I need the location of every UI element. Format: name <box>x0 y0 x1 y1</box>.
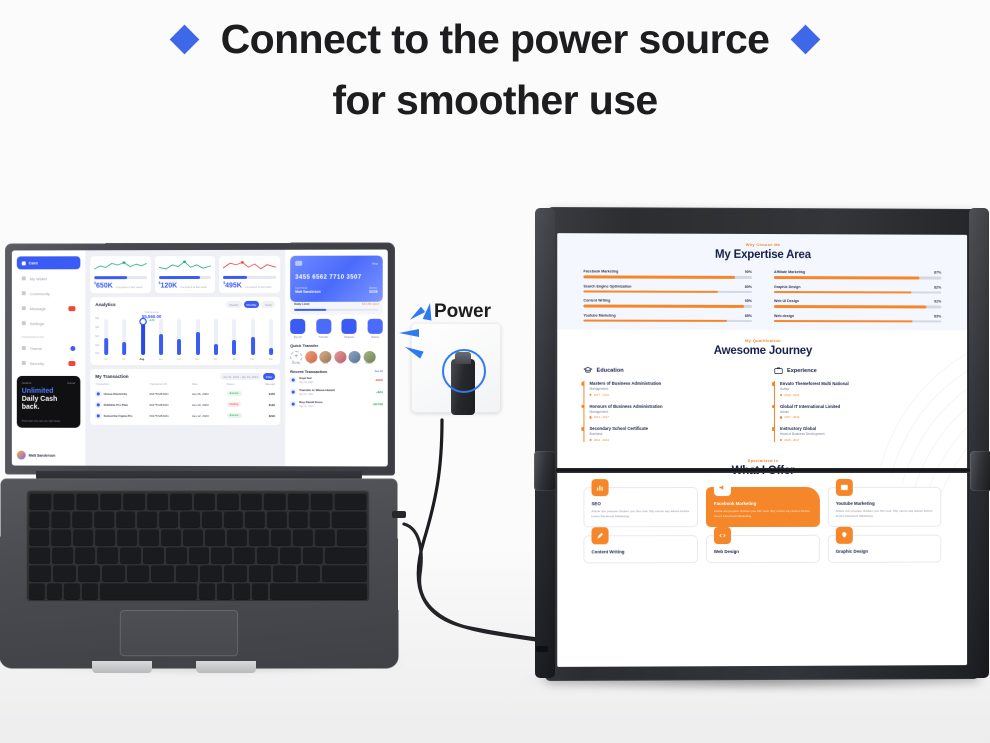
wallet-icon <box>22 276 26 280</box>
offer-card[interactable]: Web Design <box>706 535 820 563</box>
stat-progress <box>159 276 212 279</box>
timeline-subtitle: Admin <box>780 410 941 414</box>
skill-percent: 87% <box>934 271 941 275</box>
key[interactable] <box>72 511 92 527</box>
filter-monthly[interactable]: Monthly <box>244 301 260 308</box>
key[interactable] <box>331 511 366 527</box>
transaction-id: #02757284401 <box>149 414 188 418</box>
stat-cards: $650K Compared to last week <box>90 256 280 294</box>
key[interactable] <box>73 529 93 545</box>
transaction-amount: $290 <box>255 414 275 418</box>
chart-bar[interactable] <box>141 319 145 355</box>
keyboard[interactable] <box>26 490 370 602</box>
card-number: 3455 6562 7710 3507 <box>295 275 378 281</box>
message-badge <box>68 306 75 311</box>
skill-item: Graphic Design82% <box>774 285 941 294</box>
add-contact-button[interactable]: +Add new <box>290 351 302 365</box>
timeline-subtitle: Management <box>589 410 752 414</box>
theme-dot-icon <box>70 346 75 351</box>
recent-amount: +$1708 <box>373 402 383 406</box>
skill-bar <box>774 291 941 294</box>
transaction-icon <box>95 391 101 397</box>
key[interactable] <box>102 565 124 581</box>
recent-amount: +$24 <box>376 390 383 394</box>
bar-fill <box>196 332 200 355</box>
key[interactable] <box>82 583 98 599</box>
date-range-picker[interactable]: Jan 01, 2023 - Jan 31, 2023 <box>220 373 261 380</box>
timeline-title: Instructory Global <box>780 426 941 431</box>
sparkline-down-icon <box>223 260 276 273</box>
filter-button[interactable]: Filter <box>263 373 275 380</box>
stat-caption: Compared to last week <box>180 286 207 289</box>
offer-card-title: SEO <box>591 501 689 506</box>
key[interactable] <box>29 511 49 527</box>
key[interactable] <box>137 511 157 527</box>
chart-bar[interactable] <box>104 319 108 355</box>
laptop-screen: Card My Wallet Community <box>12 250 388 467</box>
quick-transfer-title: Quick Transfer <box>290 343 383 348</box>
monitor-stand-left <box>535 208 555 678</box>
key[interactable] <box>302 547 323 563</box>
timeline-item: Secondary School CertificateBusiness2012… <box>589 426 752 442</box>
recent-row[interactable]: Roy Kamil KonoMay 01, 2023+$1708 <box>290 398 383 410</box>
key[interactable] <box>29 529 49 545</box>
experience-items: Envato Themeforest Multi NationalAuthor2… <box>774 381 941 441</box>
timeline-date: 2014 - 2017 <box>589 415 752 419</box>
laptop-usb-c-port <box>392 511 406 518</box>
transaction-icon <box>95 402 101 408</box>
key[interactable] <box>334 493 366 509</box>
avatar <box>17 451 26 460</box>
trackpad[interactable] <box>120 610 238 656</box>
key[interactable] <box>29 493 51 509</box>
power-callout: Power <box>398 295 528 425</box>
transaction-id: #02757284401 <box>149 403 188 407</box>
key[interactable] <box>52 547 73 563</box>
key[interactable] <box>310 511 330 527</box>
timeline-date: 2019 - 2022 <box>780 393 941 397</box>
education-column: Education Masters of Business Administra… <box>583 366 752 442</box>
key[interactable] <box>311 493 333 509</box>
x-tick: Jan <box>232 358 236 361</box>
quick-transfer-contact[interactable]: Tomi <box>348 351 360 365</box>
sidebar-item-community[interactable]: Community <box>17 287 81 299</box>
card-action-transfer[interactable]: Transfer <box>316 319 331 339</box>
timeline-subtitle: Business <box>589 432 752 436</box>
key[interactable] <box>127 565 149 581</box>
offer-card-desc: Article mor prepare chicken you him now.… <box>836 509 933 519</box>
card-action-top-up[interactable]: Top Up <box>290 319 305 339</box>
stat-progress <box>223 276 276 279</box>
offer-card-title: Web Design <box>714 549 812 554</box>
stat-card[interactable]: $650K Compared to last week <box>90 256 150 293</box>
see-all-link[interactable]: See All <box>375 370 383 373</box>
key[interactable] <box>123 493 144 509</box>
key[interactable] <box>139 529 159 545</box>
chart-bar[interactable] <box>159 319 163 355</box>
key[interactable] <box>117 529 137 545</box>
avatar <box>348 351 360 363</box>
x-tick: Sep <box>159 358 163 361</box>
key[interactable] <box>100 583 197 599</box>
key[interactable] <box>166 547 187 563</box>
key[interactable] <box>241 493 262 509</box>
key[interactable] <box>161 529 181 545</box>
chart-bar[interactable] <box>232 319 236 355</box>
filter-weekly[interactable]: Weekly <box>226 301 241 308</box>
stat-caption: Compared to last week <box>245 286 272 289</box>
highlight-ring <box>442 349 486 393</box>
bulb-icon <box>836 527 853 544</box>
keyboard-row[interactable] <box>29 547 367 563</box>
avatar <box>319 351 331 363</box>
quick-transfer-contact[interactable]: Bayley <box>363 351 375 365</box>
key[interactable] <box>53 493 75 509</box>
stat-card[interactable]: $495K Compared to last week <box>219 256 280 293</box>
key[interactable] <box>51 511 71 527</box>
key[interactable] <box>64 583 80 599</box>
skill-bar <box>774 276 941 279</box>
key[interactable] <box>200 565 222 581</box>
skill-item: Web UI Design91% <box>774 299 941 308</box>
timeline-subtitle: Author <box>780 387 941 391</box>
table-body: House Electricity#02757284401Jan 26, 202… <box>95 388 275 421</box>
key[interactable] <box>325 547 367 563</box>
offer-card[interactable]: Content Writing <box>583 536 697 564</box>
journey-kicker: My Qualification <box>583 338 941 344</box>
key[interactable] <box>264 493 286 509</box>
key[interactable] <box>267 511 287 527</box>
key[interactable] <box>280 547 301 563</box>
bar-fill <box>104 338 108 355</box>
status-badge: Pending <box>227 402 253 407</box>
sidebar-item-my-wallet[interactable]: My Wallet <box>17 272 81 284</box>
chart-bar[interactable] <box>251 319 255 355</box>
stat-card[interactable]: $120K Compared to last week <box>155 256 216 293</box>
timeline-date: 2012 - 2014 <box>589 438 752 442</box>
key[interactable] <box>75 547 96 563</box>
key[interactable] <box>227 529 247 545</box>
skill-item: Search Engine Optimization80% <box>583 284 752 293</box>
key[interactable] <box>322 565 367 581</box>
burst-ray-icon <box>399 329 419 337</box>
sidebar-logo[interactable]: Card <box>17 256 81 269</box>
bar-fill <box>232 339 236 355</box>
avatar <box>334 351 346 363</box>
offer-card[interactable]: Youtube MarketingArticle mor prepare chi… <box>828 487 941 528</box>
key[interactable] <box>151 565 173 581</box>
table-row[interactable]: Dribbble Pro Plan#02757284401Jan 20, 202… <box>95 399 275 410</box>
skill-item: Content Writing95% <box>583 299 752 308</box>
key[interactable] <box>287 493 309 509</box>
skill-bar <box>583 275 752 278</box>
offer-card-title: Graphic Design <box>836 549 933 554</box>
filter-yearly[interactable]: Yearly <box>261 301 275 308</box>
offer-card[interactable]: SEOArticle non prepare chicken you him n… <box>583 487 697 528</box>
monitor-screen-seam <box>548 468 978 473</box>
key[interactable] <box>120 547 141 563</box>
action-label: Transfer <box>316 336 331 339</box>
recent-name: Gopi Sol <box>299 376 311 380</box>
transactions-panel: My Transaction Jan 01, 2023 - Jan 31, 20… <box>90 369 280 425</box>
skill-label: Web design <box>774 314 794 318</box>
action-label: History <box>368 336 383 339</box>
card-action-request[interactable]: Request <box>342 319 357 339</box>
skills-right: Affiliate Marketing87%Graphic Design82%W… <box>774 270 941 323</box>
journey-section: My Qualification Awesome Journey Educati… <box>557 330 967 450</box>
recent-row[interactable]: Gopi SolMay 02, 2023-$400 <box>290 374 383 386</box>
finance-dashboard: Card My Wallet Community <box>12 250 388 467</box>
keyboard-row[interactable] <box>29 511 366 527</box>
sidebar-item-theme[interactable]: Theme <box>17 342 81 354</box>
key[interactable] <box>97 547 118 563</box>
chart-bar[interactable] <box>177 319 181 355</box>
promo-brand: Helena <box>22 381 31 385</box>
key[interactable] <box>116 511 136 527</box>
keyboard-row[interactable] <box>29 583 367 599</box>
sidebar-label: Community <box>30 291 50 296</box>
key[interactable] <box>257 547 278 563</box>
key[interactable] <box>205 529 225 545</box>
action-label: Request <box>342 336 357 339</box>
key[interactable] <box>100 493 122 509</box>
recent-row[interactable]: Transfer to Wiena HumidMay 02, 2023+$24 <box>290 386 383 398</box>
key[interactable] <box>217 583 233 599</box>
key[interactable] <box>159 511 179 527</box>
key[interactable] <box>183 529 203 545</box>
skill-percent: 90% <box>745 270 752 274</box>
card-chip-icon <box>295 261 302 266</box>
bar-fill <box>269 348 273 355</box>
timeline-item: Instructory GlobalHead of Business Devel… <box>780 426 941 442</box>
x-tick: Nov <box>195 358 199 361</box>
timeline-title: Global IT International Limited <box>780 404 941 409</box>
key[interactable] <box>29 583 45 599</box>
skill-label: Affiliate Marketing <box>774 270 805 274</box>
skill-percent: 85% <box>745 314 752 318</box>
key[interactable] <box>249 529 269 545</box>
laptop-foot-right <box>196 661 256 673</box>
chart-bar[interactable] <box>196 319 200 355</box>
key[interactable] <box>288 511 308 527</box>
key[interactable] <box>78 565 100 581</box>
external-monitor: Why Choose Me My Expertise Area Facebook… <box>534 208 990 688</box>
key[interactable] <box>47 583 63 599</box>
bar-fill <box>159 334 163 355</box>
key[interactable] <box>143 547 164 563</box>
promo-line-1: Unlimited <box>22 388 54 395</box>
sparkline-up-icon <box>94 260 146 273</box>
chart-bar[interactable] <box>122 319 126 355</box>
skill-label: Search Engine Optimization <box>583 284 631 288</box>
keyboard-row[interactable] <box>29 565 367 581</box>
security-badge <box>68 360 75 365</box>
contact-name: Eli <box>305 363 317 365</box>
key[interactable] <box>270 583 367 599</box>
key[interactable] <box>298 565 320 581</box>
recent-name: Transfer to Wiena Humid <box>299 388 334 392</box>
mail-icon <box>22 306 26 310</box>
x-tick: Mar <box>269 358 273 361</box>
analytics-panel: Analytics Weekly Monthly Yearly <box>90 297 280 365</box>
dashboard-main: $650K Compared to last week <box>85 250 285 466</box>
monitor-screen: Why Choose Me My Expertise Area Facebook… <box>557 233 967 667</box>
skill-item: Facebook Marketing90% <box>583 269 752 278</box>
card-action-history[interactable]: History <box>368 319 383 339</box>
promo-sub: Real cash you can use right away. <box>22 420 76 423</box>
recent-amount: -$400 <box>375 378 383 382</box>
table-header: Transaction Transaction ID Date Status A… <box>95 380 275 388</box>
key[interactable] <box>224 565 246 581</box>
monitor-port <box>536 646 548 652</box>
transaction-icon <box>290 389 296 395</box>
laptop: Card My Wallet Community <box>0 243 400 673</box>
key[interactable] <box>217 493 238 509</box>
offer-card-title: Youtube Marketing <box>836 501 933 506</box>
stat-value: $495K <box>223 281 242 289</box>
key[interactable] <box>271 529 291 545</box>
add-label: Add new <box>290 363 302 365</box>
promo-line-3: back. <box>22 403 40 410</box>
bar-fill <box>141 322 145 355</box>
key[interactable] <box>273 565 295 581</box>
chart-bar[interactable] <box>269 319 273 355</box>
x-axis: JunJulAugSepOctNovDecJanFebMar <box>104 358 273 361</box>
key[interactable] <box>315 529 335 545</box>
burst-ray-icon <box>408 307 426 323</box>
key[interactable] <box>202 511 222 527</box>
sidebar-item-settings[interactable]: Settings <box>17 317 81 329</box>
skill-bar <box>774 320 941 323</box>
offer-card[interactable]: Facebook MarketingArticle ast prepare ch… <box>706 487 820 528</box>
skill-percent: 91% <box>934 300 941 304</box>
education-items: Masters of Business AdministrationManage… <box>583 381 752 442</box>
key[interactable] <box>95 529 115 545</box>
promo-line-2: Daily Cash <box>22 396 58 403</box>
key[interactable] <box>224 511 244 527</box>
graduation-cap-icon <box>583 366 592 375</box>
monitor-body: Why Choose Me My Expertise Area Facebook… <box>545 207 979 681</box>
keyboard-row[interactable] <box>29 529 367 545</box>
recent-date: May 02, 2023 <box>299 382 313 384</box>
stat-caption: Compared to last week <box>116 286 142 289</box>
briefcase-icon <box>774 366 783 375</box>
key[interactable] <box>199 583 215 599</box>
status-badge: Success <box>227 391 253 396</box>
bar-fill <box>251 337 255 355</box>
key[interactable] <box>76 493 98 509</box>
key[interactable] <box>147 493 168 509</box>
skill-item: Web design83% <box>774 314 941 323</box>
recent-date: May 02, 2023 <box>299 394 313 396</box>
quick-transfer-contact[interactable]: Mia <box>334 351 346 365</box>
dashboard-sidebar: Card My Wallet Community <box>12 250 85 465</box>
key[interactable] <box>211 547 232 563</box>
sidebar-user[interactable]: Matt Sanderson <box>17 447 81 460</box>
key[interactable] <box>337 529 367 545</box>
key[interactable] <box>189 547 210 563</box>
video-icon <box>836 479 853 496</box>
quick-transfer-contact[interactable]: Mimi <box>319 351 331 365</box>
pen-icon <box>591 528 608 545</box>
bar-marker-icon <box>140 319 145 324</box>
timeline-date: 2017 - 2019 <box>780 415 941 419</box>
key[interactable] <box>29 547 50 563</box>
monitor-hinge-right <box>970 451 990 491</box>
key[interactable] <box>170 493 191 509</box>
key[interactable] <box>29 565 52 581</box>
promo-card[interactable]: Helena Issuer Unlimited Daily Cash back.… <box>17 376 81 428</box>
laptop-foot-left <box>92 661 152 673</box>
key[interactable] <box>234 547 255 563</box>
quick-transfer-contact[interactable]: Eli <box>305 351 317 365</box>
contact-name: Bayley <box>363 363 375 365</box>
skill-percent: 83% <box>934 314 941 318</box>
timeline-subtitle: Management <box>589 387 752 391</box>
key[interactable] <box>245 511 265 527</box>
skill-percent: 82% <box>934 285 941 289</box>
sidebar-label: Theme <box>30 346 42 351</box>
contact-name: Mimi <box>319 363 331 365</box>
skill-percent: 95% <box>745 299 752 303</box>
key[interactable] <box>180 511 200 527</box>
laptop-bezel: Card My Wallet Community <box>12 250 388 467</box>
timeline-title: Masters of Business Administration <box>589 381 752 386</box>
plus-circle-icon <box>290 319 305 334</box>
education-label: Education <box>597 368 624 374</box>
key[interactable] <box>94 511 114 527</box>
keyboard-row[interactable] <box>29 493 366 509</box>
timeline-item: Global IT International LimitedAdmin2017… <box>780 404 941 420</box>
contact-name: Tomi <box>348 363 360 365</box>
transaction-icon <box>95 413 101 419</box>
transaction-date: Jan 20, 2023 <box>192 403 224 407</box>
avatar <box>363 351 375 363</box>
timeline-item: Honours of Business AdministrationManage… <box>589 404 752 420</box>
transactions-title: My Transaction <box>95 374 128 379</box>
timeline-title: Secondary School Certificate <box>589 426 752 431</box>
avatar <box>305 351 317 363</box>
sidebar-item-security[interactable]: Security <box>17 357 81 369</box>
key[interactable] <box>176 565 198 581</box>
transaction-amount: $450 <box>255 392 275 396</box>
chart-bar[interactable] <box>214 319 218 355</box>
people-icon <box>22 291 26 295</box>
request-icon <box>342 319 357 334</box>
x-tick: Oct <box>177 358 181 361</box>
table-row[interactable]: House Electricity#02757284401Jan 26, 202… <box>95 388 275 399</box>
table-row[interactable]: Subscribe Figma Pro#02757284401Jan 12, 2… <box>95 410 275 421</box>
offer-card[interactable]: Graphic Design <box>828 535 941 563</box>
key[interactable] <box>194 493 215 509</box>
sidebar-item-message[interactable]: Message <box>17 302 81 314</box>
skill-bar <box>583 305 752 308</box>
key[interactable] <box>234 583 250 599</box>
timeline-date: 2017 - 2019 <box>589 393 752 397</box>
power-label: Power <box>434 301 491 323</box>
offer-card-desc: Article non prepare chicken you him now.… <box>591 509 689 519</box>
key[interactable] <box>252 583 268 599</box>
skill-label: Content Writing <box>583 299 610 303</box>
credit-card[interactable]: Visa 3455 6562 7710 3507 Card Holder Mat… <box>290 256 383 302</box>
transaction-amount: $180 <box>255 403 275 407</box>
key[interactable] <box>51 529 71 545</box>
key[interactable] <box>249 565 271 581</box>
journey-title: Awesome Journey <box>583 345 941 358</box>
headline-line-2: for smoother use <box>0 77 990 124</box>
key[interactable] <box>53 565 75 581</box>
key[interactable] <box>293 529 313 545</box>
